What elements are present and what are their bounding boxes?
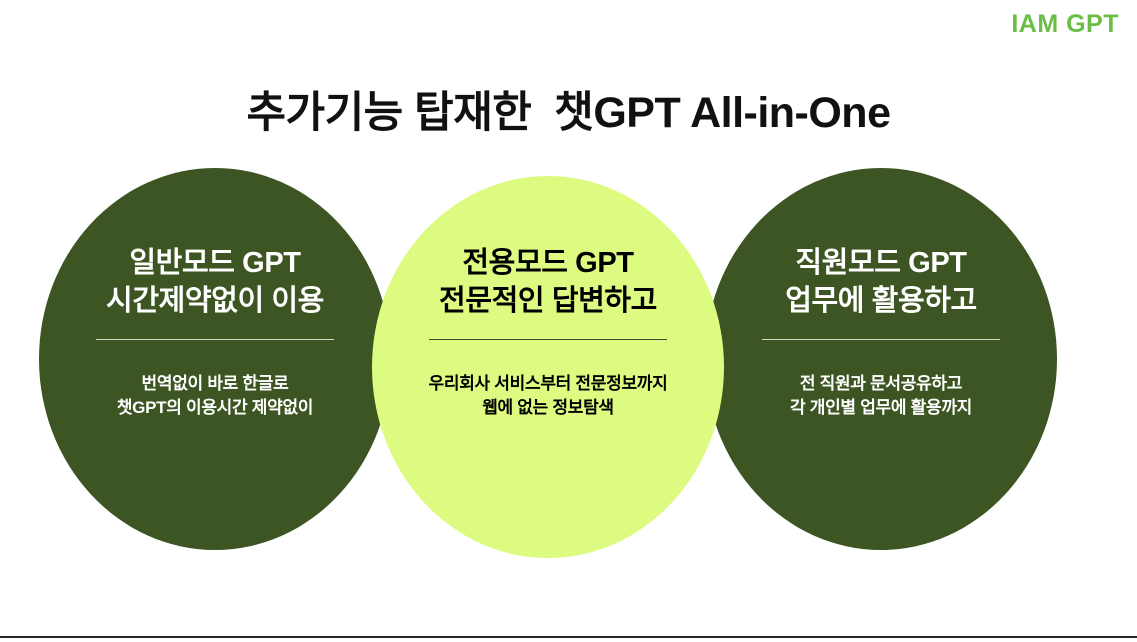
feature-body: 전 직원과 문서공유하고 각 개인별 업무에 활용까지	[790, 372, 972, 421]
feature-circle-group: 일반모드 GPT 시간제약없이 이용 번역없이 바로 한글로 챗GPT의 이용시…	[0, 0, 1137, 642]
feature-divider	[762, 339, 1000, 340]
feature-body: 번역없이 바로 한글로 챗GPT의 이용시간 제약없이	[117, 372, 313, 421]
slide-canvas: IAM GPT 추가기능 탑재한 챗GPT All-in-One 일반모드 GP…	[0, 0, 1137, 642]
feature-circle-dedicated-mode: 전용모드 GPT 전문적인 답변하고 우리회사 서비스부터 전문정보까지 웹에 …	[372, 176, 724, 558]
feature-body: 우리회사 서비스부터 전문정보까지 웹에 없는 정보탐색	[388, 372, 708, 421]
feature-heading: 전용모드 GPT 전문적인 답변하고	[439, 244, 657, 321]
feature-divider	[96, 339, 334, 340]
feature-divider	[429, 339, 667, 340]
feature-heading: 일반모드 GPT 시간제약없이 이용	[106, 244, 324, 321]
feature-heading: 직원모드 GPT 업무에 활용하고	[785, 244, 977, 321]
feature-circle-employee-mode: 직원모드 GPT 업무에 활용하고 전 직원과 문서공유하고 각 개인별 업무에…	[705, 168, 1057, 550]
footer-divider	[0, 636, 1137, 638]
feature-circle-general-mode: 일반모드 GPT 시간제약없이 이용 번역없이 바로 한글로 챗GPT의 이용시…	[39, 168, 391, 550]
